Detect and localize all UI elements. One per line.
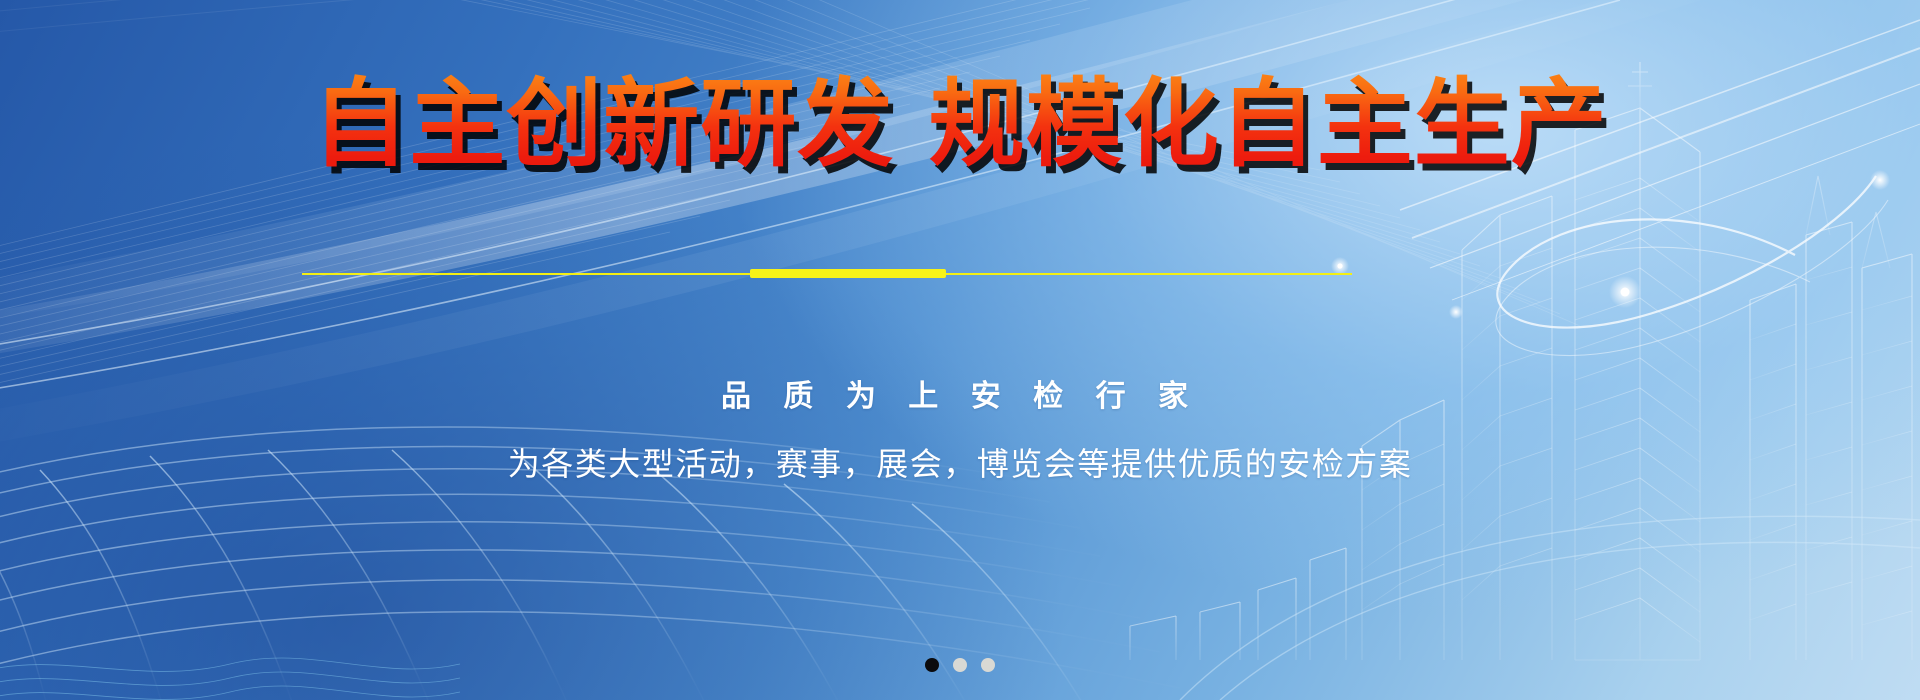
subtitle-primary: 品 质 为 上 安 检 行 家 xyxy=(0,375,1920,419)
page-title: 自主创新研发 规模化自主生产 xyxy=(312,66,1607,183)
divider-highlight-bar xyxy=(750,269,946,278)
carousel-dot-2[interactable] xyxy=(953,658,967,672)
hero-banner: 自主创新研发 规模化自主生产 品 质 为 上 安 检 行 家 为各类大型活动，赛… xyxy=(0,0,1920,700)
carousel-indicators[interactable] xyxy=(925,658,995,672)
subtitle-container: 品 质 为 上 安 检 行 家 为各类大型活动，赛事，展会，博览会等提供优质的安… xyxy=(0,375,1920,487)
carousel-dot-3[interactable] xyxy=(981,658,995,672)
subtitle-secondary: 为各类大型活动，赛事，展会，博览会等提供优质的安检方案 xyxy=(0,441,1920,487)
carousel-dot-1[interactable] xyxy=(925,658,939,672)
title-container: 自主创新研发 规模化自主生产 xyxy=(0,66,1920,183)
divider xyxy=(302,272,1352,275)
